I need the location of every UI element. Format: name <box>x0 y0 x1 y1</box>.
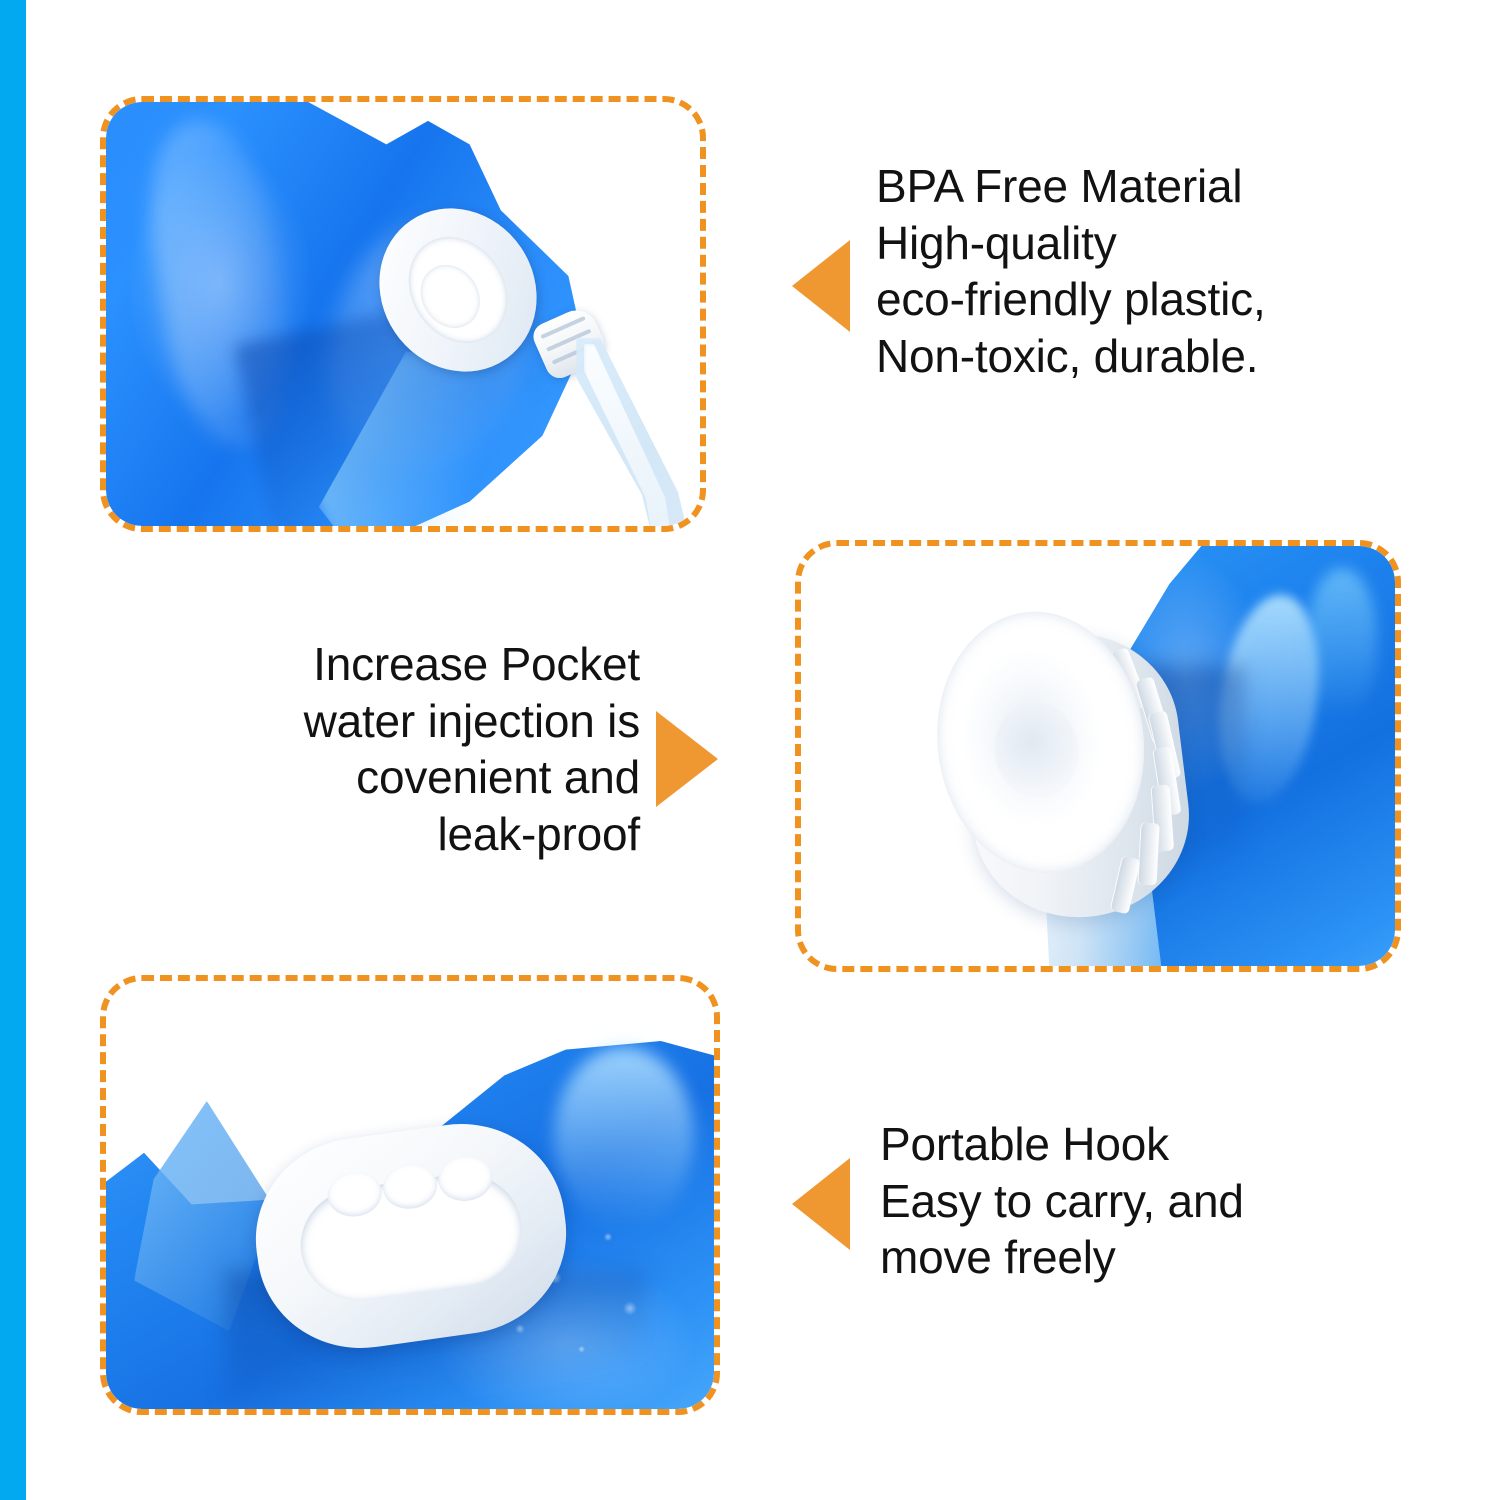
feature-caption-bpa-free: BPA Free Material High-quality eco-frien… <box>876 158 1376 384</box>
feature-caption-increase-pocket: Increase Pocket water injection is coven… <box>222 636 640 862</box>
water-stream <box>576 338 700 526</box>
screw-cap <box>922 593 1217 942</box>
photo-stage-cap-closeup <box>801 546 1395 966</box>
bag-highlight <box>1307 568 1377 718</box>
arrow-right-icon <box>656 711 718 807</box>
portable-hook-handle <box>243 1110 579 1361</box>
arrow-left-icon <box>792 240 850 332</box>
left-accent-bar <box>0 0 26 1500</box>
arrow-left-icon <box>792 1158 850 1250</box>
product-photo-pouring-bag <box>100 96 706 532</box>
cap-rib <box>1138 823 1159 886</box>
photo-stage-handle-closeup <box>106 981 714 1409</box>
product-photo-cap-closeup <box>795 540 1401 972</box>
bag-highlight <box>554 1047 694 1227</box>
product-photo-handle-closeup <box>100 975 720 1415</box>
feature-caption-portable-hook: Portable Hook Easy to carry, and move fr… <box>880 1116 1350 1286</box>
photo-stage-pouring-bag <box>106 102 700 526</box>
